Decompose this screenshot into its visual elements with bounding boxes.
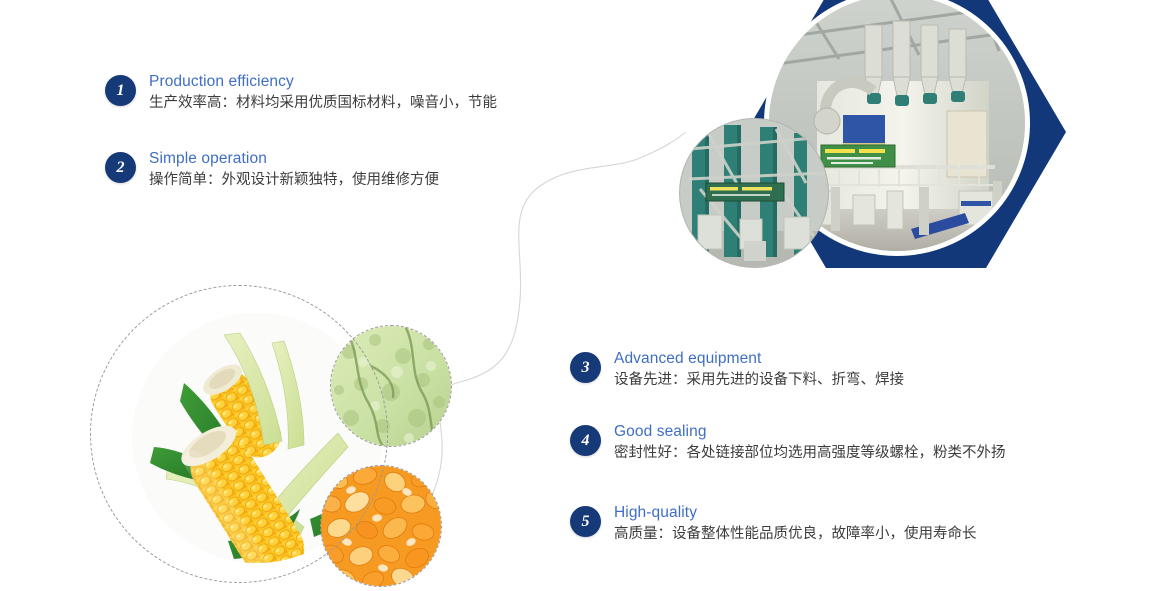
feature-title-3: Advanced equipment: [614, 349, 904, 369]
feature-text-2: Simple operation 操作简单：外观设计新颖独特，使用维修方便: [149, 149, 439, 191]
feature-item-4[interactable]: 4 Good sealing 密封性好：各处链接部位均选用高强度等级螺栓，粉类不…: [570, 425, 1006, 464]
paste-photo-outline: [330, 325, 452, 447]
feature-desc-3: 设备先进：采用先进的设备下料、折弯、焊接: [614, 369, 904, 391]
corn-photo-cluster: [88, 283, 488, 591]
feature-item-3[interactable]: 3 Advanced equipment 设备先进：采用先进的设备下料、折弯、焊…: [570, 352, 904, 391]
feature-item-1[interactable]: 1 Production efficiency 生产效率高：材料均采用优质国标材…: [105, 75, 497, 114]
feature-title-4: Good sealing: [614, 422, 1006, 442]
feature-item-5[interactable]: 5 High-quality 高质量：设备整体性能品质优良，故障率小，使用寿命长: [570, 506, 977, 545]
feature-title-1: Production efficiency: [149, 72, 497, 92]
feature-number-badge-4: 4: [570, 425, 601, 456]
feature-text-5: High-quality 高质量：设备整体性能品质优良，故障率小，使用寿命长: [614, 503, 977, 545]
infographic-canvas: 1 Production efficiency 生产效率高：材料均采用优质国标材…: [0, 0, 1154, 591]
feature-text-1: Production efficiency 生产效率高：材料均采用优质国标材料，…: [149, 72, 497, 114]
feature-desc-2: 操作简单：外观设计新颖独特，使用维修方便: [149, 169, 439, 191]
grits-photo-outline: [320, 465, 442, 587]
feature-number-badge-1: 1: [105, 75, 136, 106]
machinery-photo: [679, 118, 829, 268]
feature-text-4: Good sealing 密封性好：各处链接部位均选用高强度等级螺栓，粉类不外扬: [614, 422, 1006, 464]
feature-title-2: Simple operation: [149, 149, 439, 169]
feature-desc-4: 密封性好：各处链接部位均选用高强度等级螺栓，粉类不外扬: [614, 442, 1006, 464]
feature-title-5: High-quality: [614, 503, 977, 523]
feature-text-3: Advanced equipment 设备先进：采用先进的设备下料、折弯、焊接: [614, 349, 904, 391]
feature-item-2[interactable]: 2 Simple operation 操作简单：外观设计新颖独特，使用维修方便: [105, 152, 439, 191]
feature-desc-5: 高质量：设备整体性能品质优良，故障率小，使用寿命长: [614, 523, 977, 545]
feature-desc-1: 生产效率高：材料均采用优质国标材料，噪音小，节能: [149, 92, 497, 114]
feature-number-badge-3: 3: [570, 352, 601, 383]
feature-number-badge-5: 5: [570, 506, 601, 537]
feature-number-badge-2: 2: [105, 152, 136, 183]
